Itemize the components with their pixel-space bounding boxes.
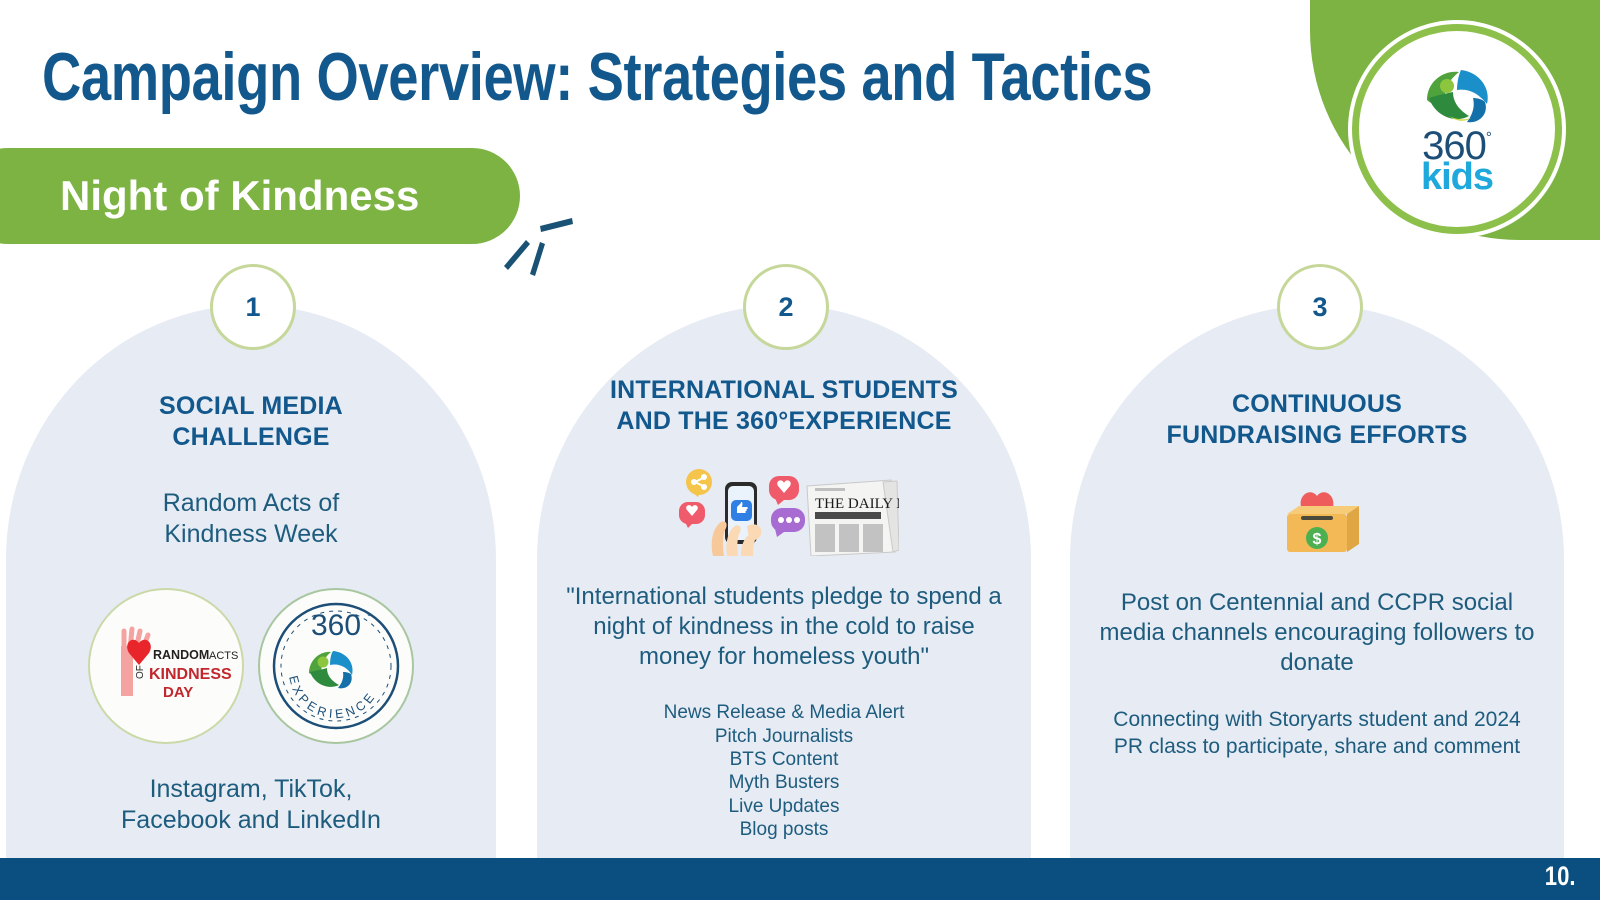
- column-1-heading: SOCIAL MEDIA CHALLENGE: [32, 391, 470, 452]
- column-3-illustration: $: [1096, 480, 1538, 562]
- column-3-body: Post on Centennial and CCPR social media…: [1096, 588, 1538, 677]
- column-2-number-badge: 2: [743, 264, 829, 350]
- column-1-social-channels: Instagram, TikTok, Facebook and LinkedIn: [32, 774, 470, 836]
- column-3-number-badge: 3: [1277, 264, 1363, 350]
- column-2-tactics-list: News Release & Media Alert Pitch Journal…: [563, 701, 1005, 841]
- 360-experience-seal: 360 ° EXPERIENCE: [258, 588, 414, 744]
- seal-360-text: 360: [311, 609, 361, 642]
- dollar-sign-icon: $: [1313, 531, 1322, 548]
- column-2-arch: INTERNATIONAL STUDENTS AND THE 360°EXPER…: [537, 305, 1031, 858]
- list-item: Live Updates: [563, 795, 1005, 818]
- column-3-note: Connecting with Storyarts student and 20…: [1096, 707, 1538, 760]
- thumbs-up-icon: [731, 500, 752, 521]
- column-2-illustration: THE DAILY NEWS: [563, 464, 1005, 556]
- footer-bar: 10.: [0, 858, 1600, 900]
- phone-social-newspaper-icon: THE DAILY NEWS: [669, 464, 899, 556]
- slide-canvas: 360 ° kids Campaign Overview: Strategies…: [0, 0, 1600, 900]
- night-of-kindness-banner: Night of Kindness: [0, 148, 520, 244]
- newspaper-icon: THE DAILY NEWS: [807, 480, 899, 556]
- heart-reaction-bubble-right: [769, 476, 799, 505]
- rak-line-of: OF: [135, 665, 146, 679]
- comment-reaction-bubble: [771, 508, 805, 537]
- column-3-heading: CONTINUOUS FUNDRAISING EFFORTS: [1096, 389, 1538, 450]
- 360kids-logo: 360 ° kids: [1352, 24, 1562, 234]
- page-title: Campaign Overview: Strategies and Tactic…: [42, 38, 1152, 116]
- column-3-arch: CONTINUOUS FUNDRAISING EFFORTS $ Post on…: [1070, 305, 1564, 858]
- logo-degree-symbol: °: [1486, 132, 1492, 144]
- rak-line-day: DAY: [163, 684, 193, 701]
- share-reaction-bubble: [686, 469, 712, 497]
- list-item: Myth Busters: [563, 771, 1005, 794]
- seal-figure-icon: [309, 651, 353, 688]
- banner-label: Night of Kindness: [60, 172, 419, 220]
- column-1-body: Random Acts of Kindness Week: [32, 488, 470, 550]
- logo-kids-word: kids: [1421, 160, 1493, 194]
- random-acts-of-kindness-day-badge: RANDOM ACTS OF KINDNESS DAY: [88, 588, 244, 744]
- column-1-badges: RANDOM ACTS OF KINDNESS DAY 360 °: [32, 588, 470, 744]
- list-item: News Release & Media Alert: [563, 701, 1005, 724]
- rak-badge-artwork: RANDOM ACTS OF KINDNESS DAY: [91, 591, 241, 741]
- list-item: Blog posts: [563, 818, 1005, 841]
- heart-reaction-bubble-left: [679, 502, 705, 528]
- 360-experience-artwork: 360 ° EXPERIENCE: [261, 591, 411, 741]
- 360kids-figure-icon: [1419, 64, 1495, 128]
- rak-line-random: RANDOM: [153, 648, 209, 662]
- page-number: 10.: [1545, 861, 1576, 892]
- column-2-quote: "International students pledge to spend …: [563, 582, 1005, 671]
- column-2-heading: INTERNATIONAL STUDENTS AND THE 360°EXPER…: [563, 375, 1005, 436]
- list-item: Pitch Journalists: [563, 725, 1005, 748]
- seal-degree-symbol: °: [367, 612, 371, 624]
- rak-line-kindness: KINDNESS: [149, 666, 232, 683]
- newspaper-masthead: THE DAILY NEWS: [815, 496, 899, 512]
- donation-box-heart-icon: $: [1269, 480, 1365, 562]
- rak-line-acts: ACTS: [209, 650, 238, 662]
- column-1-number-badge: 1: [210, 264, 296, 350]
- spark-lines-decoration: [496, 208, 576, 288]
- column-1-arch: SOCIAL MEDIA CHALLENGE Random Acts of Ki…: [6, 305, 496, 858]
- list-item: BTS Content: [563, 748, 1005, 771]
